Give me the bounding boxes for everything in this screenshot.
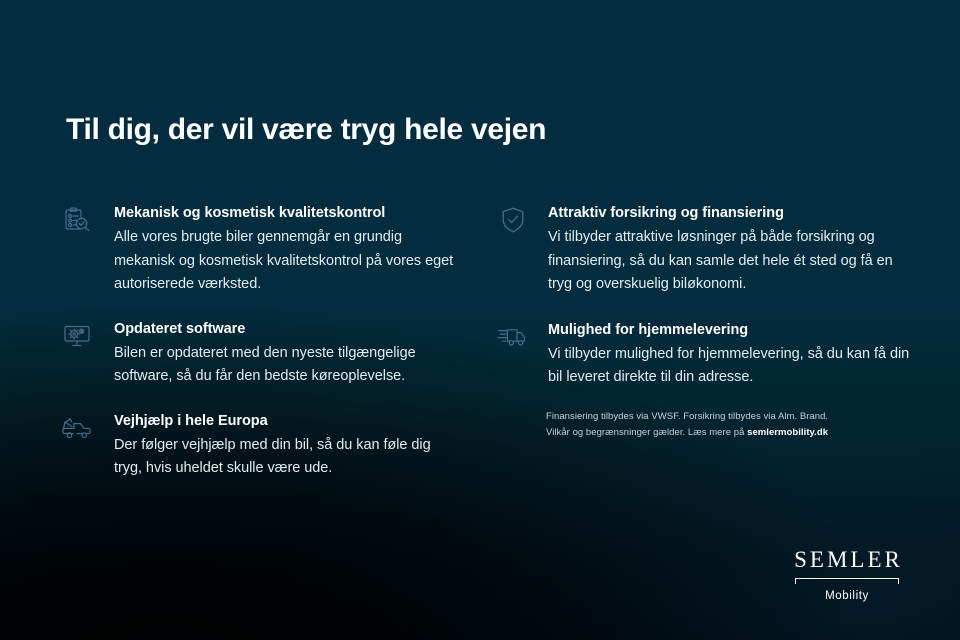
feature-item-mekanisk-kvalitetskontrol: Mekanisk og kosmetisk kvalitetskontrol A…	[58, 204, 458, 297]
feature-title: Attraktiv forsikring og finansiering	[548, 204, 910, 222]
fineprint-line-2-text: Vilkår og begrænsninger gælder. Læs mere…	[546, 427, 747, 438]
monitor-gears-icon	[58, 322, 96, 356]
feature-title: Mekanisk og kosmetisk kvalitetskontrol	[114, 204, 458, 222]
delivery-truck-icon	[494, 323, 532, 357]
features-column-right: Attraktiv forsikring og finansiering Vi …	[490, 204, 910, 390]
feature-title: Mulighed for hjemmelevering	[548, 321, 910, 339]
slide-root: Til dig, der vil være tryg hele vejen	[0, 0, 960, 640]
feature-body: Vi tilbyder mulighed for hjemmelevering,…	[548, 343, 910, 390]
feature-item-opdateret-software: Opdateret software Bilen er opdateret me…	[58, 320, 458, 389]
feature-body: Alle vores brugte biler gennemgår en gru…	[114, 226, 458, 296]
page-title: Til dig, der vil være tryg hele vejen	[66, 113, 546, 147]
shield-check-icon	[494, 206, 532, 240]
semler-mobility-logo: SEMLER Mobility	[787, 548, 907, 602]
feature-item-forsikring-finansiering: Attraktiv forsikring og finansiering Vi …	[490, 204, 910, 297]
fineprint-line-1: Finansiering tilbydes via VWSF. Forsikri…	[546, 409, 876, 425]
logo-bracket-rule	[787, 578, 907, 587]
features-column-left: Mekanisk og kosmetisk kvalitetskontrol A…	[58, 204, 458, 481]
clipboard-magnifier-icon	[58, 206, 96, 240]
logo-subtitle: Mobility	[787, 590, 907, 602]
feature-title: Opdateret software	[114, 320, 458, 338]
fineprint-line-2: Vilkår og begrænsninger gælder. Læs mere…	[546, 425, 876, 441]
feature-body: Bilen er opdateret med den nyeste tilgæn…	[114, 342, 458, 389]
feature-item-vejhjaelp-europa: Vejhjælp i hele Europa Der følger vejhjæ…	[58, 412, 458, 481]
logo-wordmark: SEMLER	[787, 548, 907, 571]
legal-fineprint: Finansiering tilbydes via VWSF. Forsikri…	[546, 409, 876, 442]
feature-body: Der følger vejhjælp med din bil, så du k…	[114, 434, 458, 481]
semlermobility-link[interactable]: semlermobility.dk	[747, 427, 828, 438]
tow-truck-icon	[58, 414, 96, 448]
feature-title: Vejhjælp i hele Europa	[114, 412, 458, 430]
feature-body: Vi tilbyder attraktive løsninger på både…	[548, 226, 910, 296]
feature-item-hjemmelevering: Mulighed for hjemmelevering Vi tilbyder …	[490, 321, 910, 390]
